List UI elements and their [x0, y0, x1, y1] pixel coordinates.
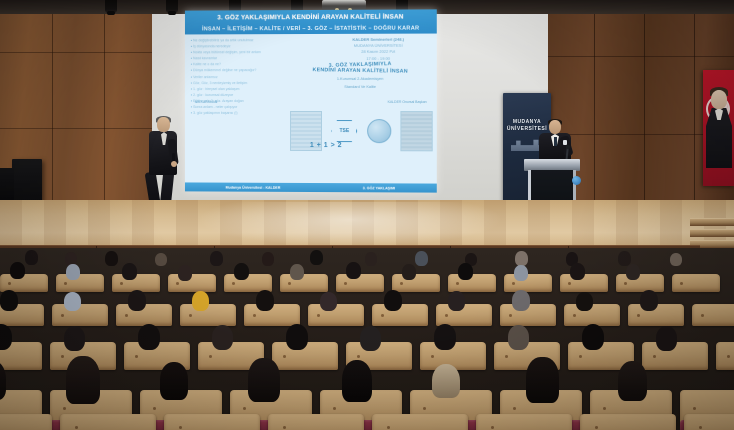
footer-left: Mudanya Üniversitesi - KALDER [226, 185, 281, 189]
slide-title: 3. GÖZ YAKLAŞIMIYLA KENDİNİ ARAYAN KALİT… [185, 9, 437, 24]
stage-light-icon [166, 0, 178, 13]
arc-title-line2: KENDİNİ ARAYAN KALİTELİ İNSAN [292, 67, 429, 75]
tse-hexagon-icon: TSE [331, 120, 357, 142]
slide-bullet-list: Ne değiştirebiliriz ya da artık unutulma… [191, 37, 308, 116]
photo-thumbnail-right [400, 111, 432, 151]
slide-credits: MA.KARAMAN KALDER Onursal Başkan [185, 100, 437, 104]
arc-sub-line1: 1.Kurumsal 2.Akademisyen [292, 76, 429, 82]
sphere-graphic-icon [367, 119, 391, 143]
blue-decor-sphere [572, 176, 581, 185]
arc-sub-line2: Standard Ve Kalite [292, 84, 429, 90]
pa-speaker-box [12, 159, 42, 205]
slide-body: Ne değiştirebiliriz ya da artık unutulma… [185, 34, 437, 183]
slide-footer: Mudanya Üniversitesi - KALDER 3. GÖZ YAK… [185, 182, 437, 192]
slide-formula: 1 + 1 > 2 [296, 142, 356, 149]
slide-arc-title: 3. GÖZ YAKLAŞIMIYLA KENDİNİ ARAYAN KALİT… [292, 62, 429, 96]
stage-light-icon [105, 0, 117, 13]
projection-screen: 3. GÖZ YAKLAŞIMIYLA KENDİNİ ARAYAN KALİT… [185, 9, 437, 192]
hex-label: TSE [331, 120, 357, 142]
stage-light-reflection [200, 202, 500, 246]
credit-left: MA.KARAMAN [195, 100, 218, 104]
microphone-icon [566, 145, 570, 149]
slide-header: 3. GÖZ YAKLAŞIMIYLA KENDİNİ ARAYAN KALİT… [185, 9, 437, 34]
ataturk-portrait [706, 86, 732, 182]
slide-event-meta: KALDER Seminerleri (248.) MUDANYA ÜNİVER… [324, 37, 433, 62]
credit-right: KALDER Onursal Başkan [388, 100, 427, 104]
audience-seating-area [0, 248, 734, 430]
footer-right: 3. GÖZ YAKLAŞIMI [363, 186, 395, 190]
auditorium-scene: 3. GÖZ YAKLAŞIMIYLA KENDİNİ ARAYAN KALİT… [0, 0, 734, 430]
